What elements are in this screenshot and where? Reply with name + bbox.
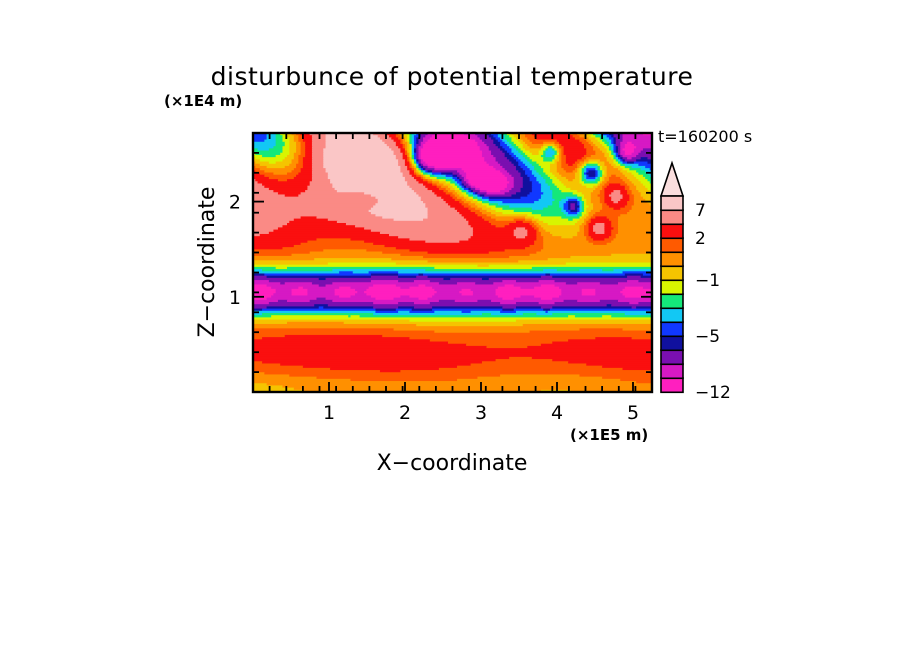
- svg-text:1: 1: [323, 402, 335, 424]
- svg-text:3: 3: [475, 402, 487, 424]
- colorbar-tick-label: −12: [695, 383, 731, 403]
- colorbar-band[interactable]: [661, 252, 683, 266]
- colorbar-band[interactable]: [661, 196, 683, 210]
- svg-text:2: 2: [399, 402, 411, 424]
- x-axis-label: X−coordinate: [377, 451, 528, 476]
- colorbar-tick-label: −1: [695, 271, 720, 291]
- colorbar-band[interactable]: [661, 210, 683, 224]
- svg-text:2: 2: [229, 192, 241, 214]
- svg-text:1: 1: [229, 287, 241, 309]
- colorbar-band[interactable]: [661, 378, 683, 392]
- svg-text:4: 4: [551, 402, 563, 424]
- colorbar-band[interactable]: [661, 266, 683, 280]
- contour-field: [253, 133, 653, 393]
- colorbar-tick-label: 2: [695, 229, 706, 249]
- colorbar-tick-label: −5: [695, 327, 720, 347]
- timestamp-label: t=160200 s: [658, 127, 752, 146]
- x-axis-unit-label: (×1E5 m): [570, 426, 648, 444]
- colorbar-band[interactable]: [661, 322, 683, 336]
- colorbar-tick-label: 7: [695, 201, 706, 221]
- colorbar-band[interactable]: [661, 336, 683, 350]
- colorbar-band[interactable]: [661, 224, 683, 238]
- colorbar-band[interactable]: [661, 364, 683, 378]
- contour-figure: disturbunce of potential temperature (×1…: [0, 0, 904, 654]
- title-unit-label: (×1E4 m): [164, 92, 242, 110]
- page-title: disturbunce of potential temperature: [211, 62, 694, 91]
- colorbar-band[interactable]: [661, 350, 683, 364]
- colorbar-band[interactable]: [661, 308, 683, 322]
- y-axis-label: Z−coordinate: [195, 187, 220, 338]
- colorbar-band[interactable]: [661, 280, 683, 294]
- colorbar-band[interactable]: [661, 294, 683, 308]
- colorbar-band[interactable]: [661, 238, 683, 252]
- svg-text:5: 5: [627, 402, 639, 424]
